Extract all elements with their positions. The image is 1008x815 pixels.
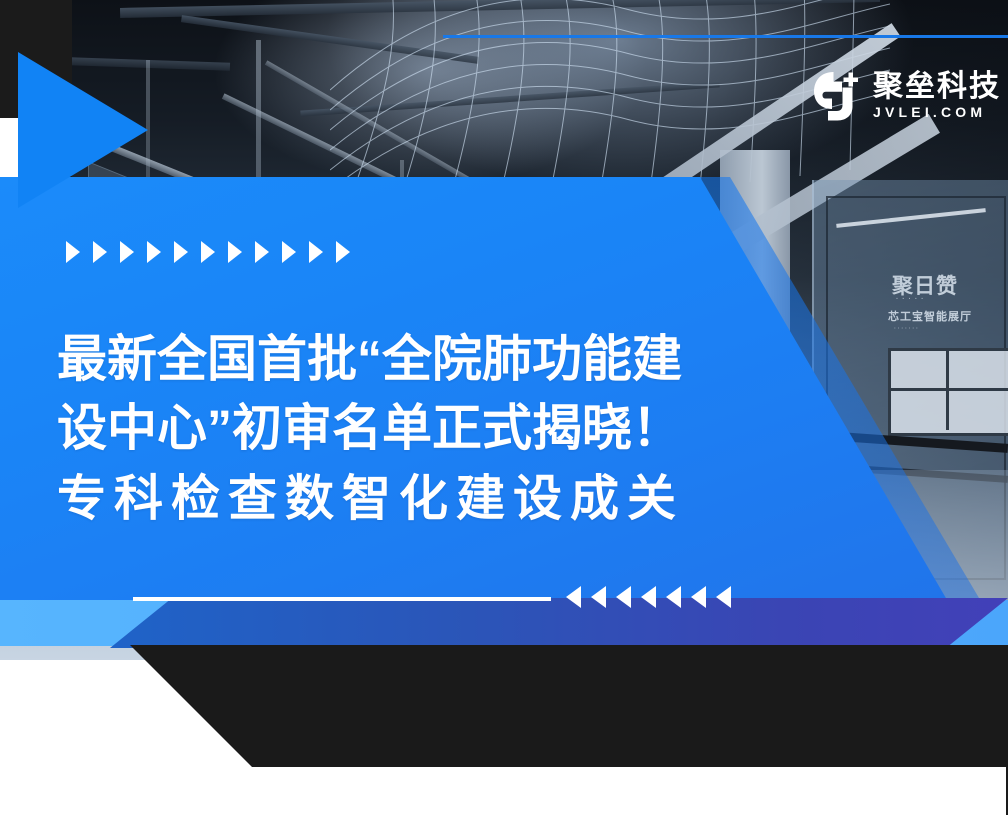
banner-stage: 聚日赞 · · · · · 芯工宝智能展厅 · · · · · · · 最新全国…	[0, 0, 1008, 815]
play-triangle-left-icon	[566, 586, 581, 608]
play-triangle-right-icon	[336, 241, 350, 263]
play-triangle-right-icon	[282, 241, 296, 263]
play-triangle-right-icon	[120, 241, 134, 263]
play-triangle-left-icon	[641, 586, 656, 608]
play-triangle-right-icon	[93, 241, 107, 263]
play-triangle-right-icon	[309, 241, 323, 263]
dark-bottom-wedge	[0, 645, 1008, 767]
brand-logo[interactable]: 聚垒科技 JVLEI.COM	[812, 70, 1001, 122]
play-triangle-left-icon	[716, 586, 731, 608]
headline-line-3: 专科检查数智化建设成关	[57, 463, 757, 535]
headline-line-1: 最新全国首批“全院肺功能建	[57, 325, 757, 394]
play-triangle-right-icon	[66, 241, 80, 263]
top-accent-rule	[443, 35, 1008, 38]
play-triangle-left-icon	[691, 586, 706, 608]
corner-notch-white	[0, 118, 18, 178]
scene-signage-secondary: 芯工宝智能展厅	[888, 308, 972, 324]
headline-line-2: 设中心”初审名单正式揭晓！	[57, 394, 757, 463]
brand-name-en: JVLEI.COM	[873, 103, 1001, 121]
play-triangle-right-icon	[147, 241, 161, 263]
brand-logo-text: 聚垒科技 JVLEI.COM	[873, 71, 1001, 121]
arrow-row-left	[566, 586, 731, 608]
page-title: 最新全国首批“全院肺功能建 设中心”初审名单正式揭晓！ 专科检查数智化建设成关	[57, 325, 757, 535]
jvlei-logo-mark-icon	[812, 70, 862, 122]
play-triangle-left-icon	[591, 586, 606, 608]
arrow-row-right	[66, 241, 350, 263]
play-triangle-right-icon	[201, 241, 215, 263]
play-triangle-left-icon	[666, 586, 681, 608]
play-triangle-right-icon	[228, 241, 242, 263]
play-triangle-right-icon	[174, 241, 188, 263]
play-triangle-left-icon	[616, 586, 631, 608]
big-play-triangle-icon	[18, 52, 148, 208]
divider-rule	[133, 597, 551, 601]
brand-name-cn: 聚垒科技	[873, 71, 1001, 103]
play-triangle-right-icon	[255, 241, 269, 263]
purple-gradient-band	[110, 598, 1008, 648]
